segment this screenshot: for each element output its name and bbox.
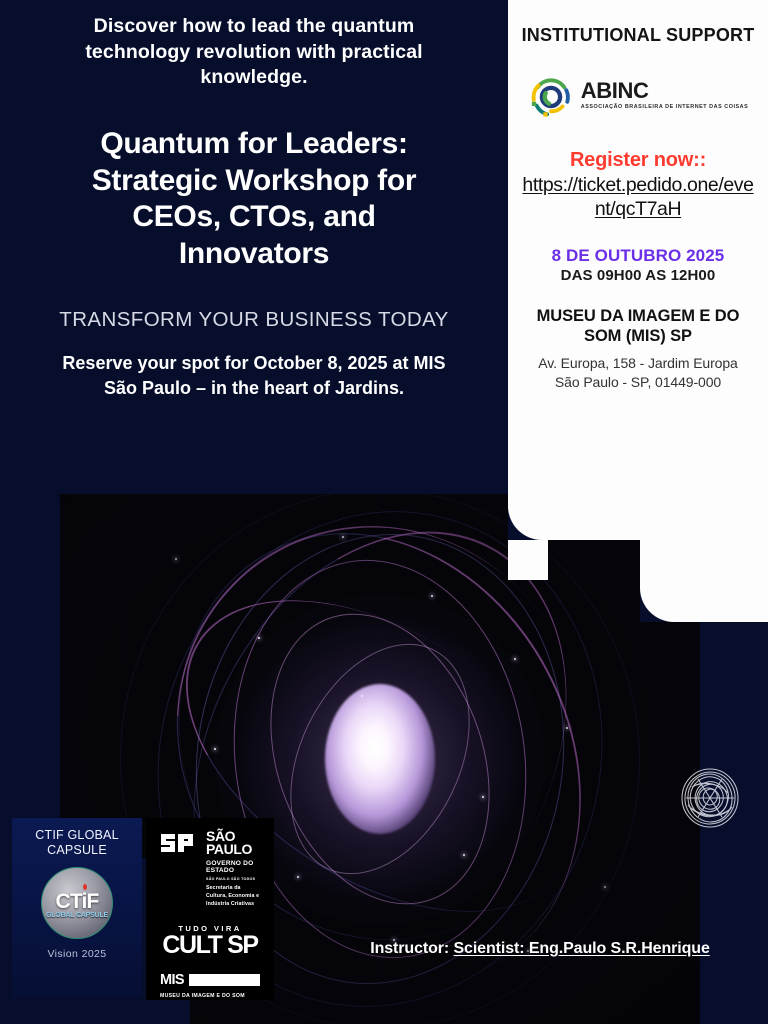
- mis-subtitle-text: MUSEU DA IMAGEM E DO SOM: [160, 992, 260, 1000]
- sponsor-name: ABINC: [581, 80, 748, 102]
- cult-sp-logo: TUDO VIRA CULT SP: [160, 924, 260, 956]
- register-link[interactable]: https://ticket.pedido.one/event/qcT7aH: [508, 173, 768, 222]
- event-time: DAS 09H00 AS 12H00: [508, 267, 768, 284]
- register-label: Register now::: [508, 149, 768, 172]
- mis-logo: MIS: [160, 972, 260, 988]
- ctif-vision-text: Vision 2025: [12, 948, 142, 960]
- sp-state-name: SÃO PAULO: [206, 830, 260, 857]
- instructor-name: Scientist: Eng.Paulo S.R.Henrique: [453, 940, 709, 957]
- page-title: Quantum for Leaders: Strategic Workshop …: [36, 126, 472, 272]
- ctif-globe-icon: CTiF GLOBAL CAPSULE: [41, 867, 113, 939]
- instructor-prefix: Instructor:: [370, 940, 453, 957]
- venue-address: Av. Europa, 158 - Jardim Europa São Paul…: [508, 354, 768, 392]
- left-content-column: Discover how to lead the quantum technol…: [0, 0, 508, 400]
- sao-paulo-logo-panel: SÃO PAULO GOVERNO DO ESTADO SÃO PAULO SÃ…: [146, 818, 274, 1000]
- reserve-text: Reserve your spot for October 8, 2025 at…: [36, 351, 472, 401]
- sponsor-tagline: ASSOCIAÇÃO BRASILEIRA DE INTERNET DAS CO…: [581, 104, 748, 111]
- cult-sp-text: CULT SP: [160, 934, 260, 956]
- sp-monogram-icon: [160, 830, 200, 856]
- mis-word-text: MIS: [160, 972, 184, 988]
- sp-secretariat-text: Secretaria da Cultura, Economia e Indúst…: [206, 885, 260, 909]
- event-date: 8 DE OUTUBRO 2025: [508, 246, 768, 266]
- ctif-mark-text: CTiF: [42, 890, 112, 914]
- scribbled-circular-seal-icon: [678, 765, 742, 831]
- abinc-circular-logo-icon: [528, 73, 574, 119]
- ctif-mark-subtext: GLOBAL CAPSULE: [42, 912, 112, 919]
- institutional-support-title: INSTITUTIONAL SUPPORT: [508, 24, 768, 47]
- mis-bar-shape: [189, 974, 260, 986]
- ctif-title: CTIF GLOBAL CAPSULE: [12, 828, 142, 859]
- panel-step: [640, 540, 768, 622]
- venue-address-line-1: Av. Europa, 158 - Jardim Europa: [508, 354, 768, 373]
- venue-address-line-2: São Paulo - SP, 01449-000: [508, 373, 768, 392]
- sp-logo-header: SÃO PAULO GOVERNO DO ESTADO SÃO PAULO SÃ…: [160, 830, 260, 909]
- sponsor-text: ABINC ASSOCIAÇÃO BRASILEIRA DE INTERNET …: [581, 80, 748, 111]
- sp-wordmark: SÃO PAULO GOVERNO DO ESTADO SÃO PAULO SÃ…: [206, 830, 260, 909]
- venue-name: MUSEU DA IMAGEM E DO SOM (MIS) SP: [508, 306, 768, 347]
- institutional-panel: INSTITUTIONAL SUPPORT ABINC ASSOCIAÇÃO B…: [508, 0, 768, 540]
- sp-slogan-text: SÃO PAULO SÃO TODOS: [206, 877, 260, 881]
- sponsor-logo: ABINC ASSOCIAÇÃO BRASILEIRA DE INTERNET …: [508, 73, 768, 119]
- kicker-text: Discover how to lead the quantum technol…: [36, 14, 472, 91]
- panel-notch: [508, 540, 548, 580]
- instructor-line: Instructor: Scientist: Eng.Paulo S.R.Hen…: [330, 938, 750, 960]
- tagline-text: TRANSFORM YOUR BUSINESS TODAY: [36, 307, 472, 333]
- ctif-logo-panel: CTIF GLOBAL CAPSULE CTiF GLOBAL CAPSULE …: [12, 818, 142, 998]
- sp-government-text: GOVERNO DO ESTADO: [206, 860, 260, 875]
- poster-canvas: Discover how to lead the quantum technol…: [0, 0, 768, 1024]
